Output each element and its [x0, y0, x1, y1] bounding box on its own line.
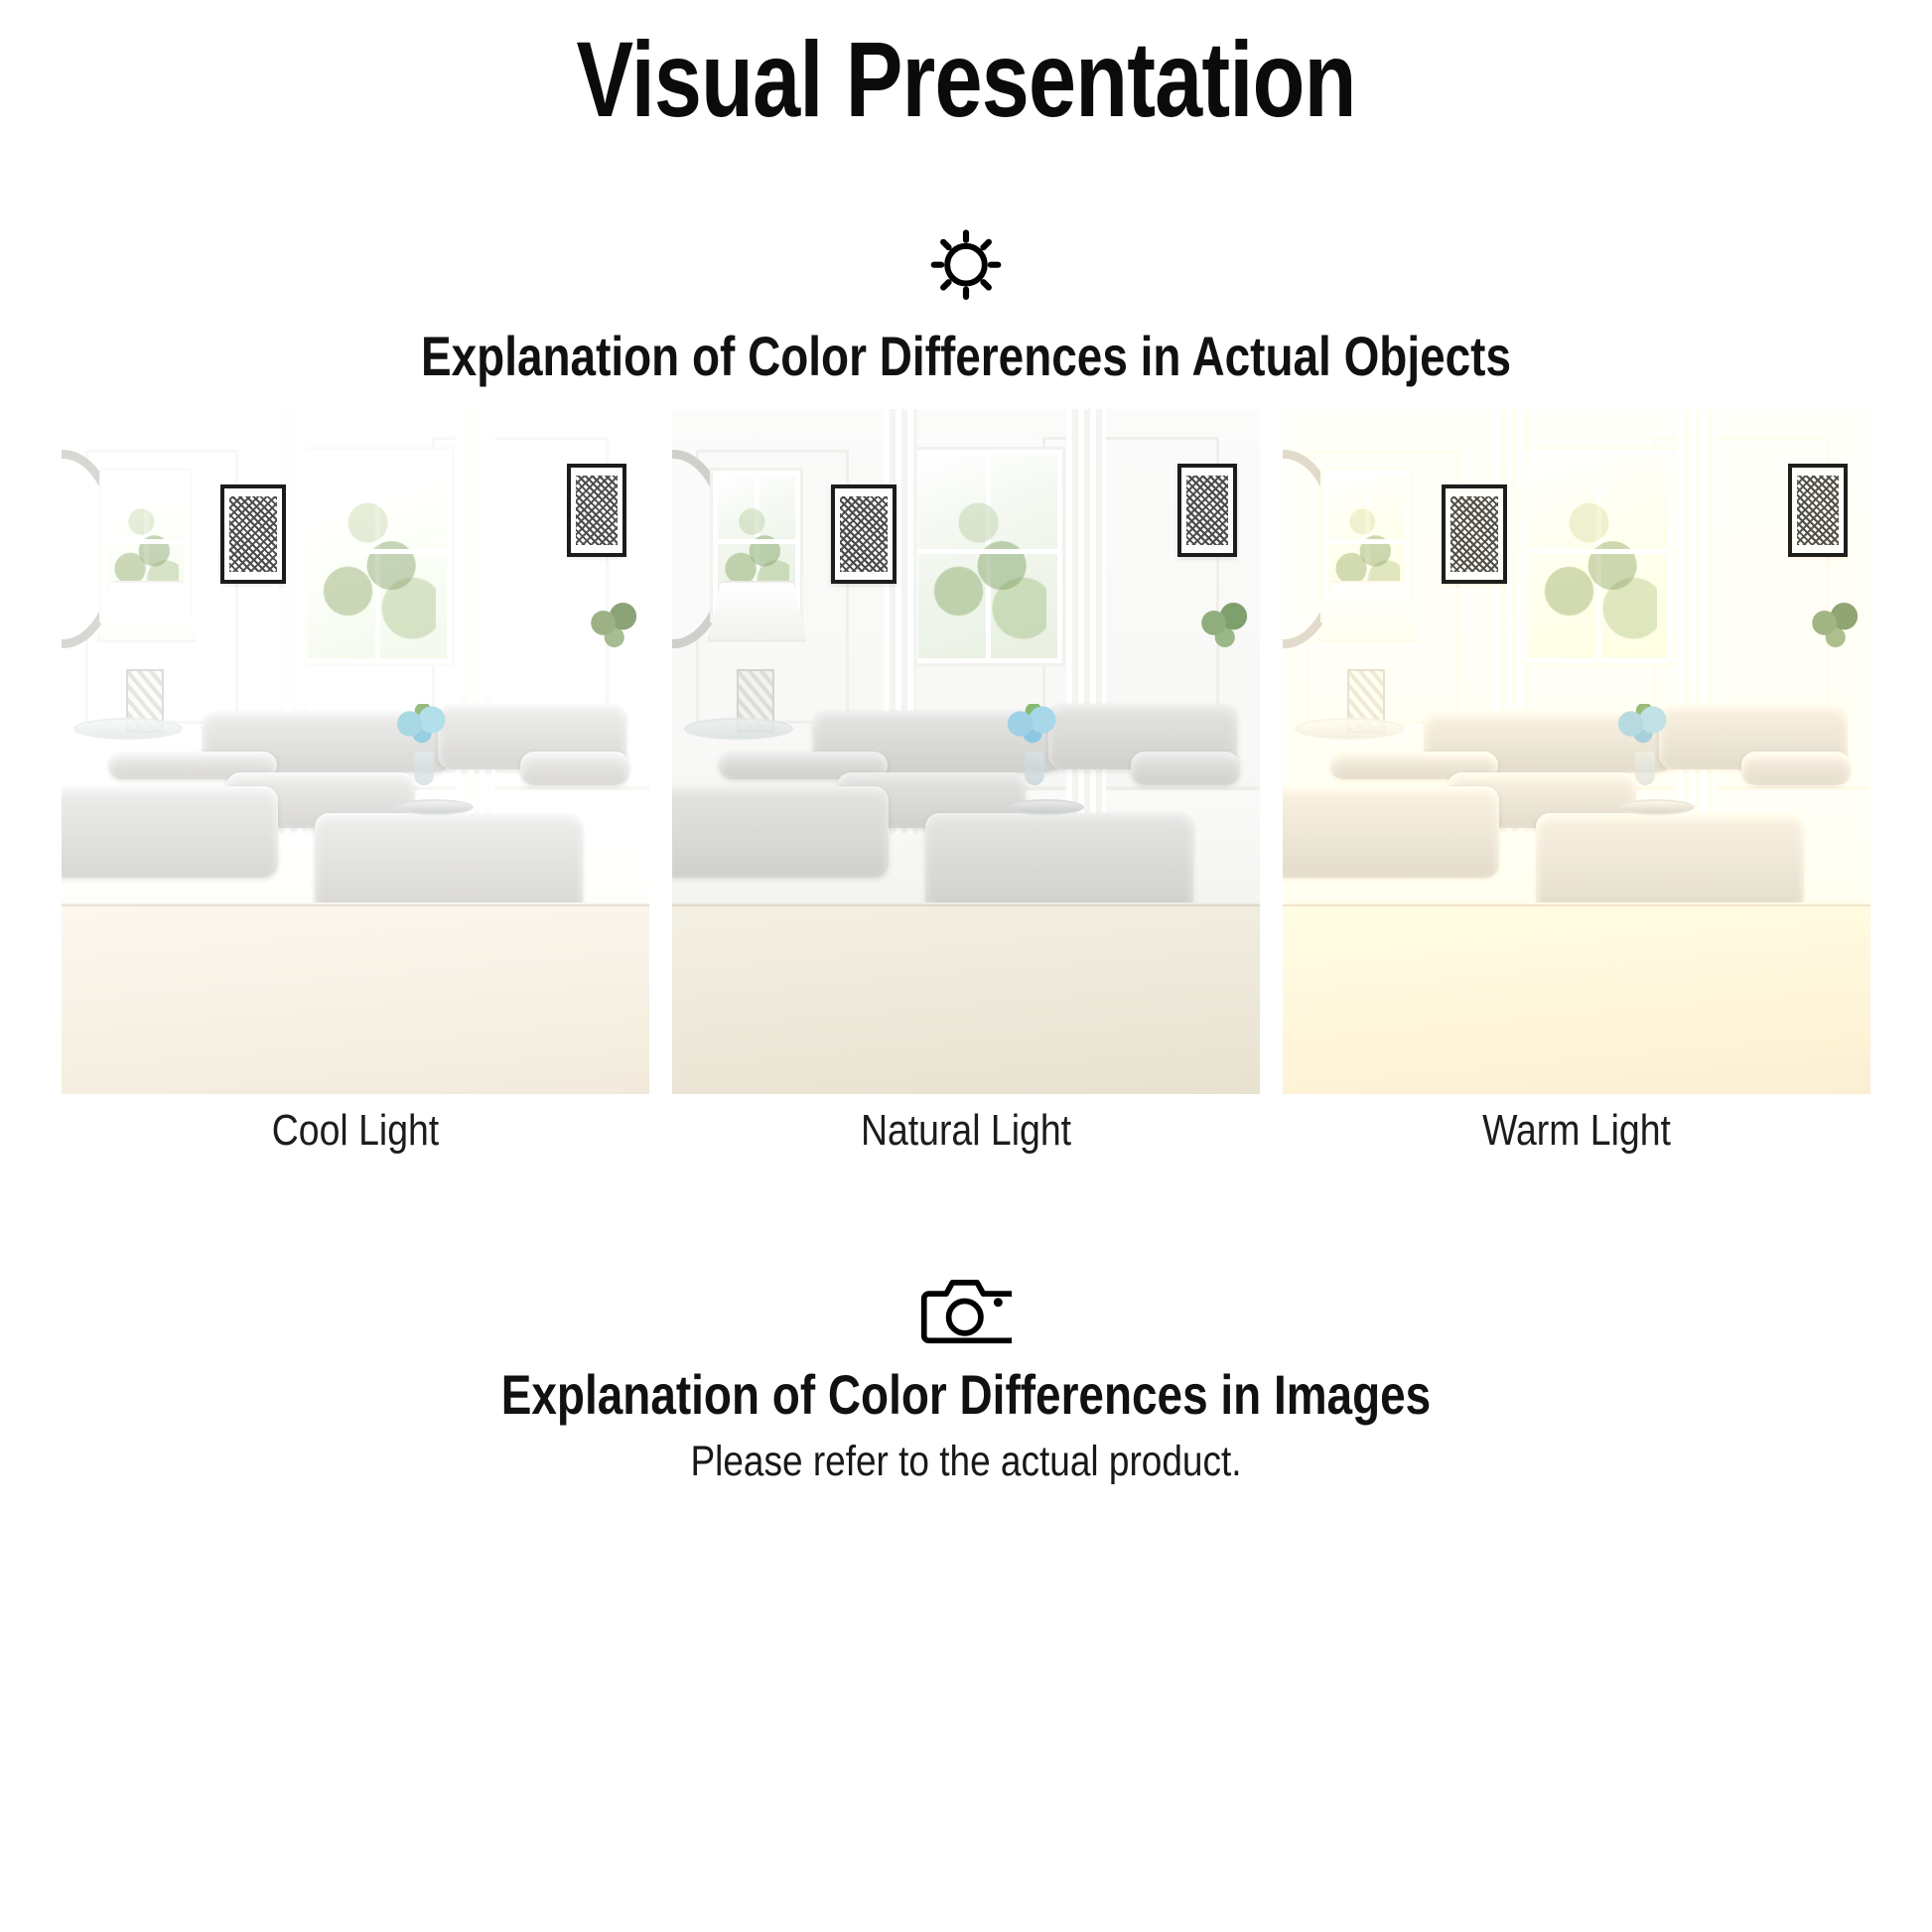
light-panel-cool [62, 409, 649, 1094]
camera-icon [920, 1271, 1012, 1351]
light-caption-row: Cool Light Natural Light Warm Light [62, 1106, 1870, 1156]
room-photo-cool [62, 409, 649, 1094]
room-scene [672, 409, 1260, 1094]
section-heading-images: Explanation of Color Differences in Imag… [174, 1362, 1758, 1427]
light-panel-natural [672, 409, 1260, 1094]
caption-warm-light: Warm Light [1326, 1106, 1826, 1156]
room-scene [1283, 409, 1870, 1094]
visual-presentation-page: Visual Presentation Explanation of Color… [0, 0, 1932, 1932]
light-comparison-row [62, 409, 1870, 1094]
room-photo-natural [672, 409, 1260, 1094]
devices-row [0, 1501, 1932, 1898]
sun-icon-container [0, 216, 1932, 312]
page-title: Visual Presentation [194, 22, 1739, 138]
room-photo-warm [1283, 409, 1870, 1094]
camera-icon-container [0, 1263, 1932, 1358]
caption-natural-light: Natural Light [716, 1106, 1215, 1156]
caption-cool-light: Cool Light [105, 1106, 605, 1156]
room-scene [62, 409, 649, 1094]
section-heading-objects: Explanation of Color Differences in Actu… [174, 324, 1758, 388]
actual-product-note: Please refer to the actual product. [135, 1438, 1797, 1486]
sun-icon [923, 219, 1009, 310]
light-panel-warm [1283, 409, 1870, 1094]
